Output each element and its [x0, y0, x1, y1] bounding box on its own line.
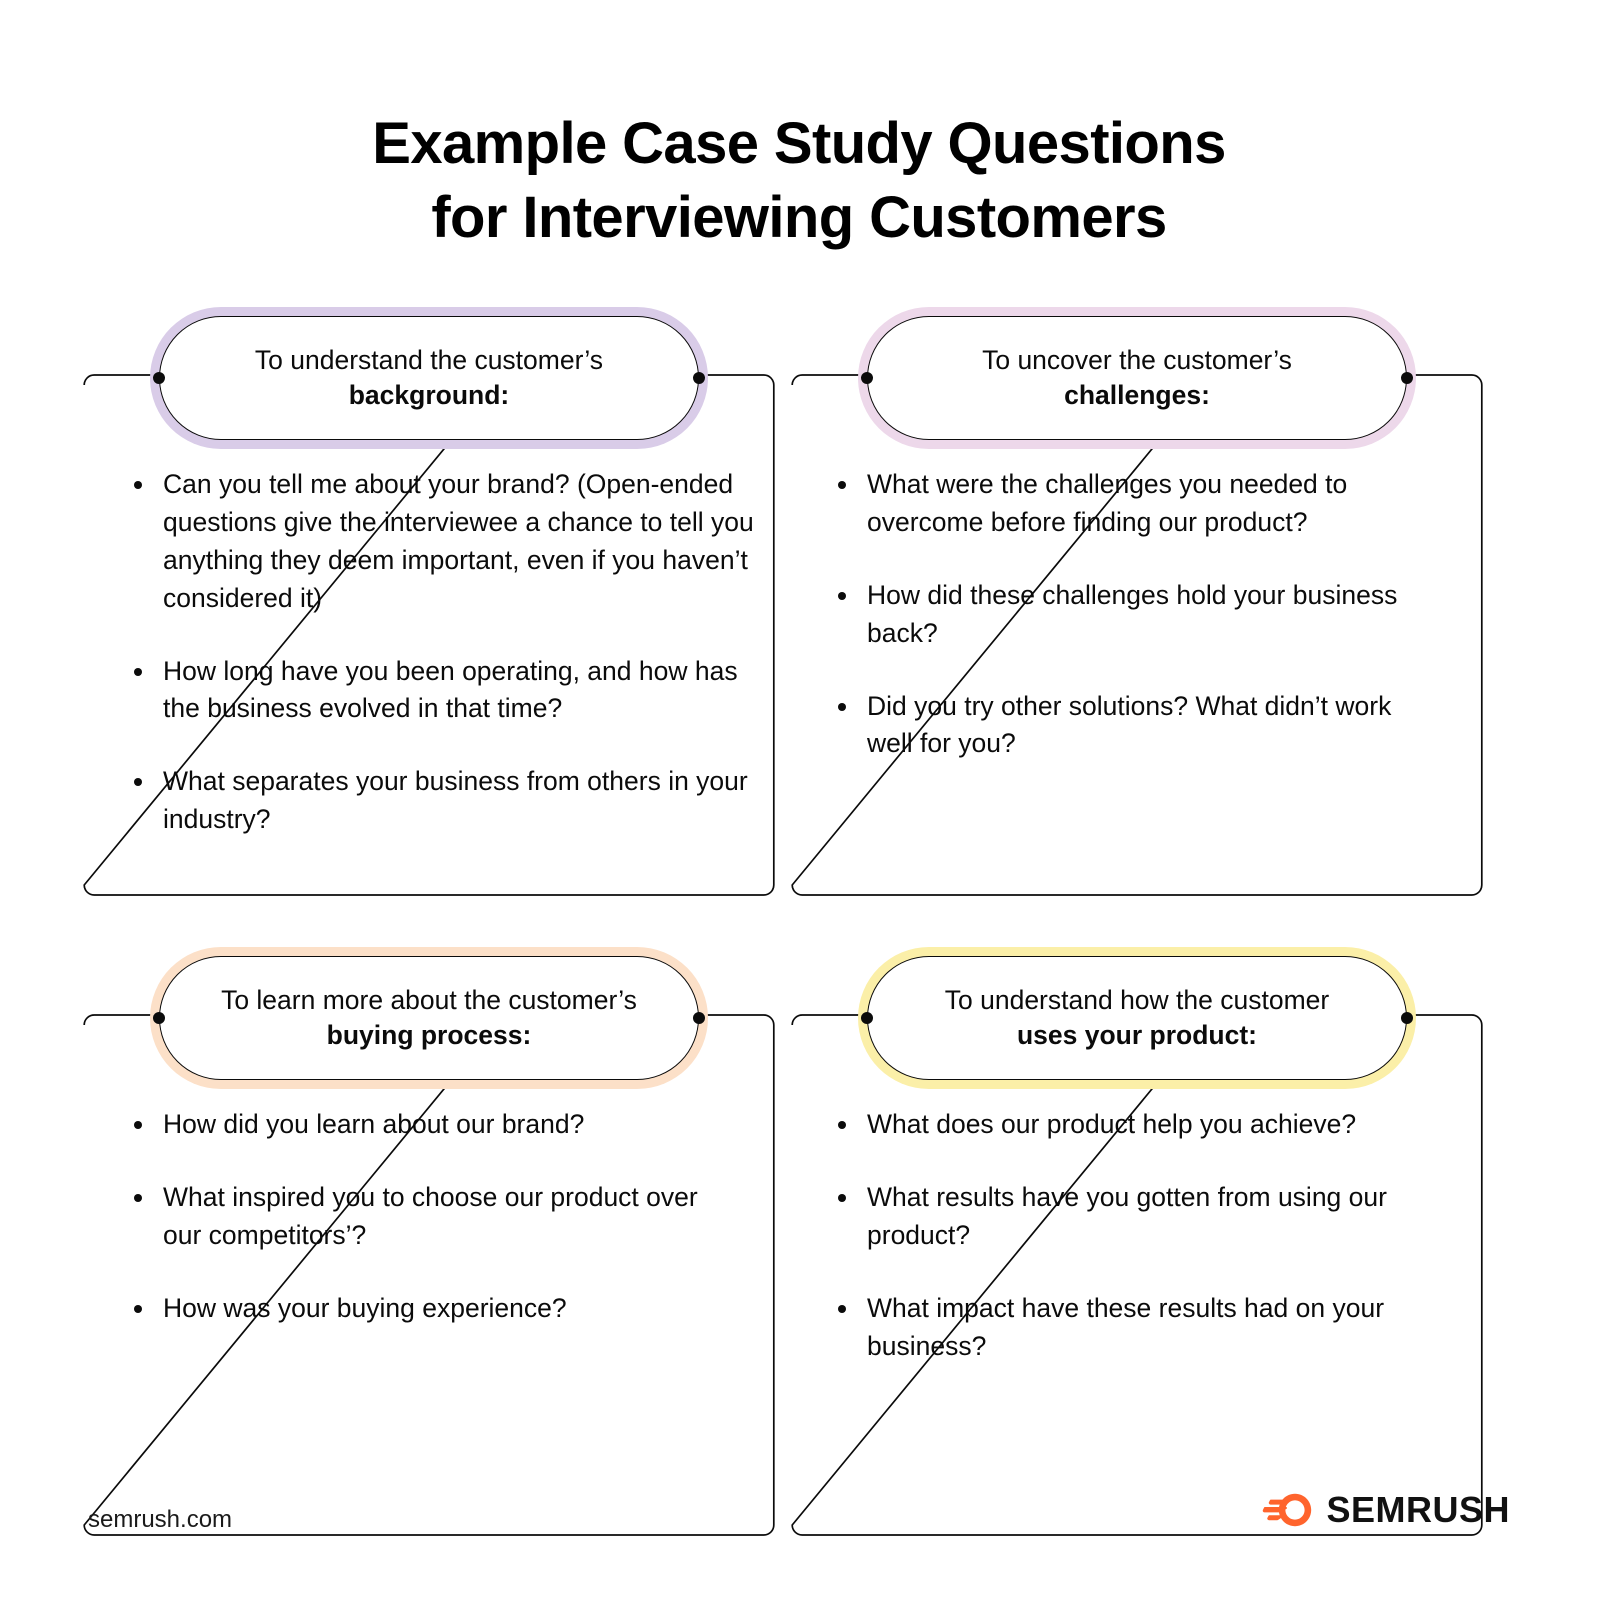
- list-item: What separates your business from others…: [127, 763, 755, 839]
- bullet-dot-icon: [838, 1305, 846, 1313]
- bullet-dot-icon: [134, 668, 142, 676]
- connector-dot-right: [1401, 372, 1413, 384]
- bullet-dot-icon: [838, 703, 846, 711]
- page-title-line-1: Example Case Study Questions: [0, 107, 1598, 181]
- pill-header-line-1: To learn more about the customer’s: [221, 983, 637, 1018]
- bullet-dot-icon: [134, 481, 142, 489]
- pill-header-line-1: To understand how the customer: [945, 983, 1329, 1018]
- card-header-pill: To uncover the customer’s challenges:: [867, 316, 1407, 440]
- card-customer-challenges: To uncover the customer’s challenges: Wh…: [791, 316, 1483, 896]
- connector-dot-right: [693, 1012, 705, 1024]
- bullet-dot-icon: [838, 592, 846, 600]
- list-item-text: What does our product help you achieve?: [867, 1109, 1356, 1139]
- list-item: How long have you been operating, and ho…: [127, 653, 755, 729]
- pill-outline: To uncover the customer’s challenges:: [867, 316, 1407, 440]
- connector-dot-left: [153, 1012, 165, 1024]
- pill-outline: To understand the customer’s background:: [159, 316, 699, 440]
- list-item-text: How did you learn about our brand?: [163, 1109, 584, 1139]
- list-item-text: Can you tell me about your brand? (Open-…: [163, 469, 754, 613]
- list-item: Can you tell me about your brand? (Open-…: [127, 466, 755, 618]
- footer: semrush.com SEMRUSH: [0, 1470, 1598, 1600]
- connector-dot-right: [693, 372, 705, 384]
- question-list: How did you learn about our brand? What …: [127, 1106, 739, 1328]
- list-item: How was your buying experience?: [127, 1290, 739, 1328]
- card-customer-background: To understand the customer’s background:…: [83, 316, 775, 896]
- question-list: What were the challenges you needed to o…: [831, 466, 1443, 763]
- list-item-text: What results have you gotten from using …: [867, 1182, 1387, 1250]
- pill-outline: To understand how the customer uses your…: [867, 956, 1407, 1080]
- semrush-logo: SEMRUSH: [1262, 1492, 1510, 1528]
- page-title: Example Case Study Questions for Intervi…: [0, 107, 1598, 255]
- list-item: What results have you gotten from using …: [831, 1179, 1443, 1255]
- page-title-line-2: for Interviewing Customers: [0, 181, 1598, 255]
- bullet-dot-icon: [134, 1121, 142, 1129]
- bullet-dot-icon: [134, 1194, 142, 1202]
- card-header-pill: To understand how the customer uses your…: [867, 956, 1407, 1080]
- connector-dot-right: [1401, 1012, 1413, 1024]
- list-item-text: What were the challenges you needed to o…: [867, 469, 1347, 537]
- pill-header-line-1: To uncover the customer’s: [982, 343, 1292, 378]
- bullet-dot-icon: [838, 1194, 846, 1202]
- pill-header-line-2: buying process:: [327, 1018, 532, 1053]
- list-item: Did you try other solutions? What didn’t…: [831, 688, 1443, 764]
- question-card-grid: To understand the customer’s background:…: [83, 316, 1483, 1536]
- list-item-text: How long have you been operating, and ho…: [163, 656, 738, 724]
- card-header-pill: To learn more about the customer’s buyin…: [159, 956, 699, 1080]
- pill-header-line-2: challenges:: [1064, 378, 1210, 413]
- card-product-usage: To understand how the customer uses your…: [791, 956, 1483, 1536]
- question-list: What does our product help you achieve? …: [831, 1106, 1443, 1365]
- list-item-text: Did you try other solutions? What didn’t…: [867, 691, 1391, 759]
- card-buying-process: To learn more about the customer’s buyin…: [83, 956, 775, 1536]
- list-item-text: What inspired you to choose our product …: [163, 1182, 698, 1250]
- question-list: Can you tell me about your brand? (Open-…: [127, 466, 755, 839]
- pill-header-line-2: background:: [349, 378, 509, 413]
- list-item-text: What impact have these results had on yo…: [867, 1293, 1384, 1361]
- list-item-text: How did these challenges hold your busin…: [867, 580, 1397, 648]
- list-item: What were the challenges you needed to o…: [831, 466, 1443, 542]
- connector-dot-left: [153, 372, 165, 384]
- bullet-dot-icon: [838, 1121, 846, 1129]
- connector-dot-left: [861, 372, 873, 384]
- list-item: How did these challenges hold your busin…: [831, 577, 1443, 653]
- list-item: What inspired you to choose our product …: [127, 1179, 739, 1255]
- bullet-dot-icon: [134, 778, 142, 786]
- connector-dot-left: [861, 1012, 873, 1024]
- bullet-dot-icon: [838, 481, 846, 489]
- footer-url: semrush.com: [88, 1506, 232, 1534]
- pill-outline: To learn more about the customer’s buyin…: [159, 956, 699, 1080]
- pill-header-line-1: To understand the customer’s: [255, 343, 603, 378]
- pill-header-line-2: uses your product:: [1017, 1018, 1257, 1053]
- infographic-page: Example Case Study Questions for Intervi…: [0, 0, 1598, 1600]
- bullet-dot-icon: [134, 1305, 142, 1313]
- semrush-wordmark: SEMRUSH: [1326, 1492, 1510, 1528]
- list-item: What does our product help you achieve?: [831, 1106, 1443, 1144]
- list-item-text: How was your buying experience?: [163, 1293, 567, 1323]
- semrush-comet-icon: [1262, 1493, 1314, 1527]
- list-item-text: What separates your business from others…: [163, 766, 748, 834]
- card-header-pill: To understand the customer’s background:: [159, 316, 699, 440]
- list-item: What impact have these results had on yo…: [831, 1290, 1443, 1366]
- list-item: How did you learn about our brand?: [127, 1106, 739, 1144]
